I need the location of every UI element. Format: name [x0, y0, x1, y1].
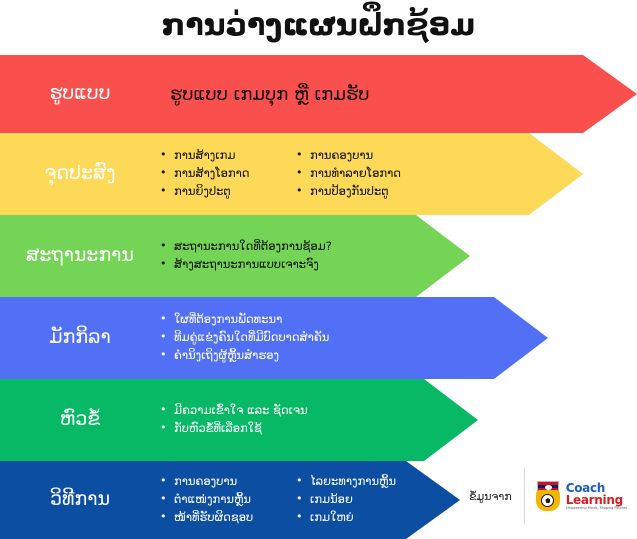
list-item: ຄຳນິງເຖິງຜູ້ຫຼິ້ນສຳຮອງ	[160, 347, 329, 365]
list-item: ການຄອງບານ	[160, 473, 286, 491]
row-inner-format: ຮູບແບບຮູບແບບ ເກມບຸກ ຫຼື ເກມຮັບ	[0, 55, 637, 133]
bullet-list-skill-1: ໃຜທີ່ຕ້ອງການພັດທະນາທີມຄູ່ແຂ່ງຄົນໃດທີ່ມີບ…	[160, 311, 329, 364]
bullet-list-objective-2: ການຄອງບານການທຳລາຍໂອກາດການປ້ອງກັນປະຕູ	[296, 147, 401, 200]
list-item: ສະຖານະການໃດທີ່ຕ້ອງການຊ້ອມ?	[160, 238, 332, 256]
bullet-list-method-1: ການຄອງບານຕຳແໜ່ງການຫຼິ້ນໜ້າທີ່ຮັບຜິດຊອບ	[160, 473, 286, 526]
shield-icon	[536, 490, 560, 511]
process-row-objective: ຈຸດປະສົງການສ້າງເກມການສ້າງໂອກາດການຍິງປະຕູ…	[0, 133, 637, 215]
list-item: ເກມນ້ອຍ	[296, 491, 396, 509]
row-content-objective: ການສ້າງເກມການສ້າງໂອກາດການຍິງປະຕູການຄອງບາ…	[160, 147, 637, 200]
logo-tagline: Empowering Minds, Shaping Futures	[566, 506, 627, 510]
row-label-topic: ຫົວຂໍ້	[0, 407, 160, 433]
list-item: ການປ້ອງກັນປະຕູ	[296, 183, 401, 201]
list-item: ສ້າງສະຖານະການແບບເຈາະຈົງ	[160, 256, 332, 274]
bullet-list-objective-1: ການສ້າງເກມການສ້າງໂອກາດການຍິງປະຕູ	[160, 147, 286, 200]
soccer-ball-icon	[541, 494, 554, 507]
process-row-situation: ສະຖານະການສະຖານະການໃດທີ່ຕ້ອງການຊ້ອມ?ສ້າງສ…	[0, 215, 637, 297]
row-inner-objective: ຈຸດປະສົງການສ້າງເກມການສ້າງໂອກາດການຍິງປະຕູ…	[0, 133, 637, 215]
list-item: ການສ້າງໂອກາດ	[160, 165, 286, 183]
row-label-situation: ສະຖານະການ	[0, 243, 160, 269]
bullet-list-method-2: ໄລຍະທາງການຫຼິ້ນເກມນ້ອຍເກມໃຫຍ່	[296, 473, 396, 526]
list-item: ໃຜທີ່ຕ້ອງການພັດທະນາ	[160, 311, 329, 329]
list-item: ໜ້າທີ່ຮັບຜິດຊອບ	[160, 509, 286, 527]
row-label-method: ວິທີການ	[0, 487, 160, 513]
bullet-list-topic-1: ມີຄວາມເຂົ້າໃຈ ແລະ ຊັດເຈນກັບຫົວຂໍ້ທີ່ເລືອ…	[160, 402, 308, 438]
logo-wordmark: Coach Learning Empowering Minds, Shaping…	[563, 482, 627, 510]
process-row-skill: ມັກກິລາໃຜທີ່ຕ້ອງການພັດທະນາທີມຄູ່ແຂ່ງຄົນໃ…	[0, 297, 637, 379]
list-item: ການຍິງປະຕູ	[160, 183, 286, 201]
row-content-format: ຮູບແບບ ເກມບຸກ ຫຼື ເກມຮັບ	[160, 84, 637, 105]
list-item: ການຄອງບານ	[296, 147, 401, 165]
row-label-objective: ຈຸດປະສົງ	[0, 161, 160, 187]
coach-learning-logo: Coach Learning Empowering Minds, Shaping…	[525, 481, 627, 511]
list-item: ການສ້າງເກມ	[160, 147, 286, 165]
bullet-list-situation-1: ສະຖານະການໃດທີ່ຕ້ອງການຊ້ອມ?ສ້າງສະຖານະການແ…	[160, 238, 332, 274]
logo-word-learning: Learning	[566, 494, 627, 506]
row-inner-topic: ຫົວຂໍ້ມີຄວາມເຂົ້າໃຈ ແລະ ຊັດເຈນກັບຫົວຂໍ້ທ…	[0, 379, 637, 461]
list-item: ມີຄວາມເຂົ້າໃຈ ແລະ ຊັດເຈນ	[160, 402, 308, 420]
credit-block: ຂໍ້ມູນຈາກ Coach Learning Empowering Mind…	[469, 464, 629, 528]
row-label-skill: ມັກກິລາ	[0, 325, 160, 351]
row-text-format: ຮູບແບບ ເກມບຸກ ຫຼື ເກມຮັບ	[160, 84, 370, 105]
list-item: ທີມຄູ່ແຂ່ງຄົນໃດທີ່ມີບົດບາດສຳຄັນ	[160, 329, 329, 347]
page-title: ການວ່າງແຜນຝຶກຊ້ອມ	[0, 0, 637, 55]
row-inner-skill: ມັກກິລາໃຜທີ່ຕ້ອງການພັດທະນາທີມຄູ່ແຂ່ງຄົນໃ…	[0, 297, 637, 379]
process-row-topic: ຫົວຂໍ້ມີຄວາມເຂົ້າໃຈ ແລະ ຊັດເຈນກັບຫົວຂໍ້ທ…	[0, 379, 637, 461]
list-item: ການທຳລາຍໂອກາດ	[296, 165, 401, 183]
row-content-situation: ສະຖານະການໃດທີ່ຕ້ອງການຊ້ອມ?ສ້າງສະຖານະການແ…	[160, 238, 637, 274]
list-item: ຕຳແໜ່ງການຫຼິ້ນ	[160, 491, 286, 509]
list-item: ກັບຫົວຂໍ້ທີ່ເລືອກໃຊ້	[160, 420, 308, 438]
row-inner-situation: ສະຖານະການສະຖານະການໃດທີ່ຕ້ອງການຊ້ອມ?ສ້າງສ…	[0, 215, 637, 297]
row-label-format: ຮູບແບບ	[0, 81, 160, 107]
process-row-format: ຮູບແບບຮູບແບບ ເກມບຸກ ຫຼື ເກມຮັບ	[0, 55, 637, 133]
credit-label: ຂໍ້ມູນຈາກ	[469, 490, 524, 503]
row-content-topic: ມີຄວາມເຂົ້າໃຈ ແລະ ຊັດເຈນກັບຫົວຂໍ້ທີ່ເລືອ…	[160, 402, 637, 438]
logo-badge-icon	[535, 481, 563, 511]
row-content-skill: ໃຜທີ່ຕ້ອງການພັດທະນາທີມຄູ່ແຂ່ງຄົນໃດທີ່ມີບ…	[160, 311, 637, 364]
list-item: ເກມໃຫຍ່	[296, 509, 396, 527]
list-item: ໄລຍະທາງການຫຼິ້ນ	[296, 473, 396, 491]
